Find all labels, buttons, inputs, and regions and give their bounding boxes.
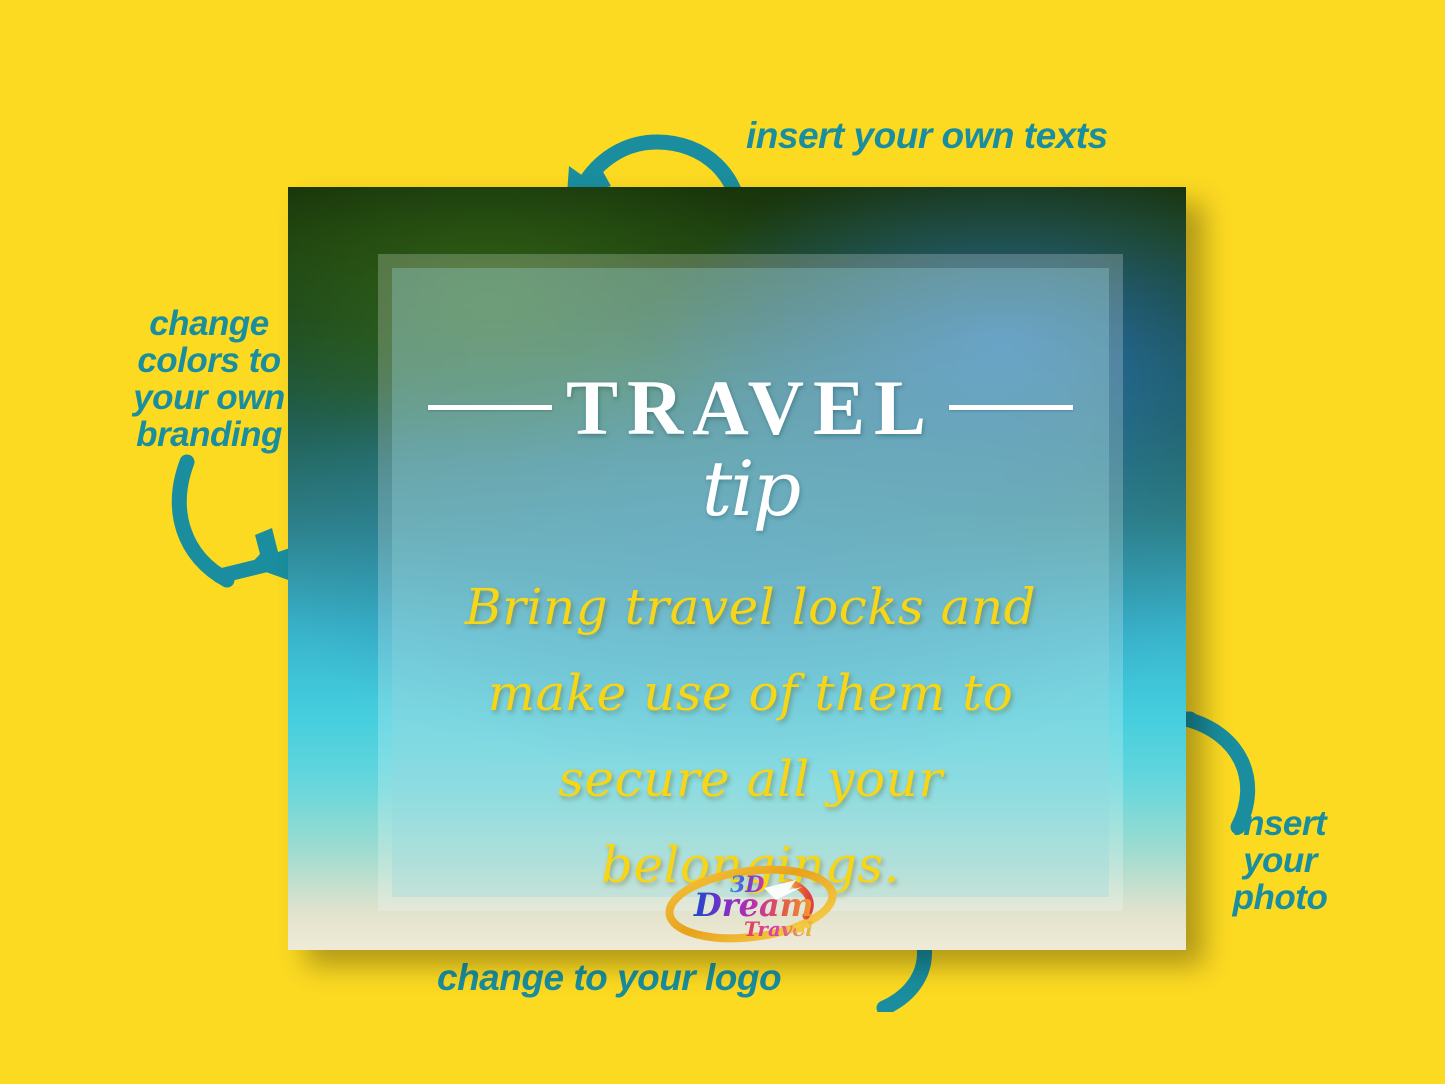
poster-card[interactable]: TRAVEL tip Bring travel locks and make u…	[288, 187, 1186, 950]
poster-title-row: TRAVEL	[392, 372, 1109, 444]
brand-logo-3d-dream-travel[interactable]: 3D Dream Travel	[656, 854, 846, 950]
title-rule-right	[949, 405, 1073, 410]
title-rule-left	[428, 405, 552, 410]
poster-mockup-stage: insert your own texts change colors to y…	[0, 0, 1445, 1084]
annotation-change-to-your-logo: change to your logo	[437, 958, 781, 997]
annotation-insert-your-photo: insert your photo	[1205, 805, 1355, 916]
poster-subtitle: tip	[392, 444, 1109, 533]
annotation-insert-your-own-texts: insert your own texts	[746, 116, 1108, 155]
poster-frame-outer: TRAVEL tip Bring travel locks and make u…	[378, 254, 1123, 911]
poster-frame-inner: TRAVEL tip Bring travel locks and make u…	[392, 268, 1109, 897]
poster-title: TRAVEL	[552, 372, 949, 444]
